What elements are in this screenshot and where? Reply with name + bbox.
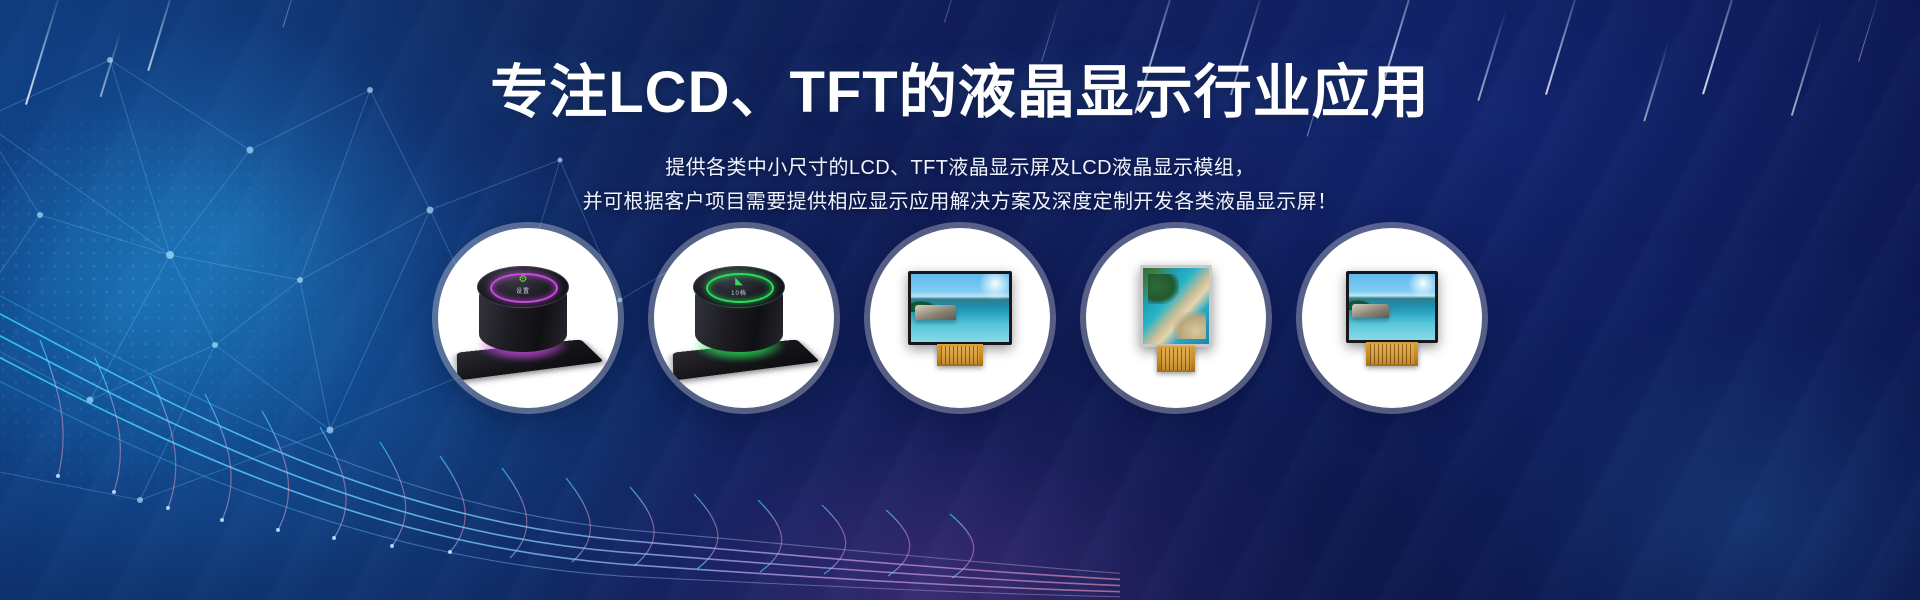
meteor-streak — [1858, 0, 1881, 62]
product-circle-tft-lcd-square-module[interactable] — [1302, 228, 1482, 408]
product-circle-smart-speaker-purple[interactable]: ⚙设置· · · · — [438, 228, 618, 408]
fpc-flex-cable — [937, 344, 983, 366]
page-title: 专注LCD、TFT的液晶显示行业应用 — [0, 62, 1920, 125]
fpc-trace-lines — [941, 346, 979, 364]
product-circle-smart-speaker-green[interactable]: ◣10档 — [654, 228, 834, 408]
lcd-screen-bezel — [1140, 265, 1212, 347]
lcd-screen-bezel — [1346, 271, 1438, 343]
speaker-screen-icon: ◣ — [735, 277, 743, 287]
speaker-screen-label: 10档 — [731, 288, 747, 297]
speaker-screen-dots: · · · · — [512, 295, 535, 300]
fpc-flex-cable — [1366, 342, 1418, 366]
smart-speaker-device: ⚙设置· · · · — [453, 248, 603, 388]
lcd-panel-module — [908, 271, 1012, 366]
hero-banner: 专注LCD、TFT的液晶显示行业应用 提供各类中小尺寸的LCD、TFT液晶显示屏… — [0, 0, 1920, 600]
fpc-trace-lines — [1370, 344, 1414, 364]
speaker-display-face: ⚙设置· · · · — [477, 266, 569, 308]
fpc-trace-lines — [1161, 348, 1191, 370]
speaker-screen-icon: ⚙ — [519, 275, 528, 285]
lcd-screen-bezel — [908, 271, 1012, 345]
lcd-panel-module — [1346, 271, 1438, 366]
speaker-screen-label: 设置 — [516, 286, 530, 295]
meteor-streak — [147, 0, 176, 71]
lcd-screen-image-beach-resort — [1349, 274, 1435, 340]
product-circle-tft-lcd-vertical-module[interactable] — [1086, 228, 1266, 408]
lcd-panel-module — [1140, 265, 1212, 372]
subtitle-line-1: 提供各类中小尺寸的LCD、TFT液晶显示屏及LCD液晶显示模组， — [0, 151, 1920, 185]
smart-speaker-device: ◣10档 — [669, 248, 819, 388]
lcd-screen-image-beach-resort — [911, 274, 1009, 342]
product-circle-tft-lcd-widescreen-module[interactable] — [870, 228, 1050, 408]
subtitle-line-2: 并可根据客户项目需要提供相应显示应用解决方案及深度定制开发各类液晶显示屏！ — [0, 185, 1920, 219]
meteor-streak — [282, 0, 301, 28]
meteor-streak — [1041, 0, 1061, 62]
speaker-display-face: ◣10档 — [693, 266, 785, 308]
meteor-streak — [944, 0, 961, 23]
lcd-screen-image-cove-aerial — [1143, 268, 1209, 344]
hero-text-block: 专注LCD、TFT的液晶显示行业应用 提供各类中小尺寸的LCD、TFT液晶显示屏… — [0, 62, 1920, 219]
product-showcase-row: ⚙设置· · · ·◣10档 — [0, 228, 1920, 408]
fpc-flex-cable — [1157, 346, 1195, 372]
